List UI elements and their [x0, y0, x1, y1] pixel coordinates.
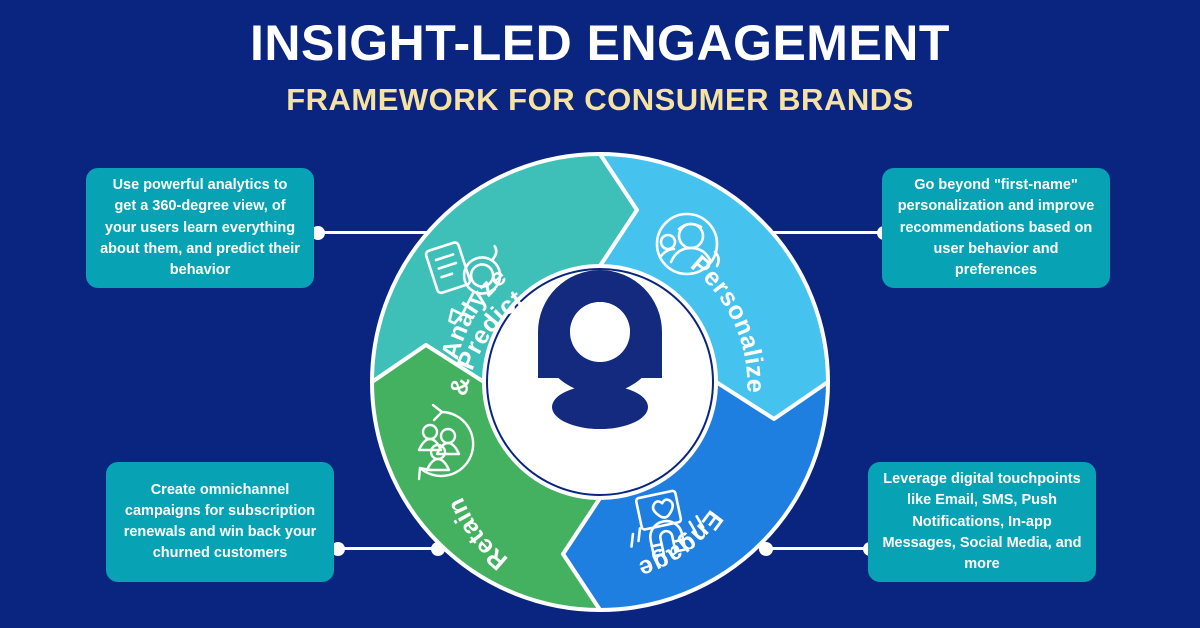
callout-text: Leverage digital touchpoints like Email,…	[882, 469, 1082, 574]
engagement-wheel: Analyze & Predict Personalize Engage Ret…	[370, 142, 830, 622]
callout-text: Create omnichannel campaigns for subscri…	[120, 480, 320, 564]
callout-text: Go beyond "first-name" personalization a…	[896, 175, 1096, 280]
header-block: INSIGHT-LED ENGAGEMENT FRAMEWORK FOR CON…	[0, 16, 1200, 117]
user-avatar-icon	[538, 270, 662, 429]
page-subtitle: FRAMEWORK FOR CONSUMER BRANDS	[0, 83, 1200, 117]
callout-analyze-predict[interactable]: Use powerful analytics to get a 360-degr…	[86, 168, 314, 288]
callout-retain[interactable]: Create omnichannel campaigns for subscri…	[106, 462, 334, 582]
callout-text: Use powerful analytics to get a 360-degr…	[100, 175, 300, 280]
callout-engage[interactable]: Leverage digital touchpoints like Email,…	[868, 462, 1096, 582]
infographic-canvas: INSIGHT-LED ENGAGEMENT FRAMEWORK FOR CON…	[0, 0, 1200, 628]
page-title: INSIGHT-LED ENGAGEMENT	[0, 16, 1200, 71]
callout-personalize[interactable]: Go beyond "first-name" personalization a…	[882, 168, 1110, 288]
